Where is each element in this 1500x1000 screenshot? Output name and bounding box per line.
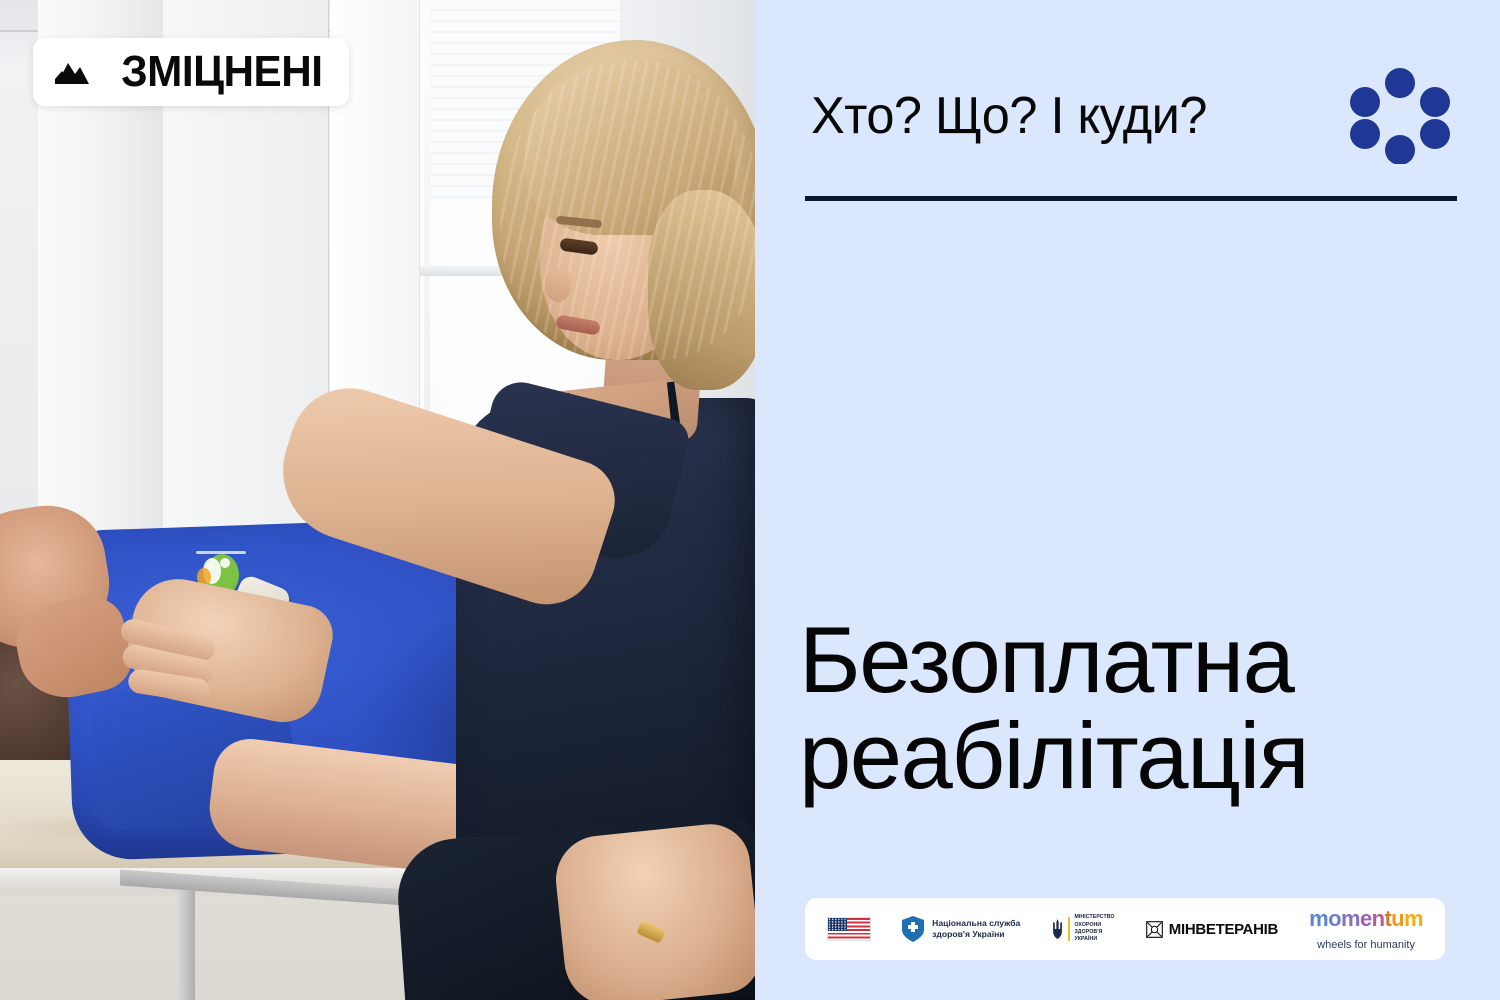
kicker-text: Хто? Що? І куди? <box>811 90 1207 142</box>
clinic-photo <box>0 0 755 1000</box>
moz-divider <box>1068 917 1070 941</box>
cross-emblem-icon <box>1146 921 1163 938</box>
moz-label: МІНІСТЕРСТВО ОХОРОНИ ЗДОРОВ'Я УКРАЇНИ <box>1074 914 1114 944</box>
headline-line-1: Безоплатна <box>799 607 1293 712</box>
kicker-row: Хто? Що? І куди? <box>805 68 1452 164</box>
nszu-line-2: здоров'я України <box>932 929 1020 940</box>
therapist-hand-holding <box>552 820 755 1000</box>
headline-line-2: реабілітація <box>799 708 1470 804</box>
shield-cross-icon <box>902 916 924 942</box>
partner-momentum: momentum wheels for humanity <box>1309 908 1423 951</box>
partner-usaid-flag <box>827 917 871 941</box>
brand-logo-badge[interactable]: ЗМІЦНЕНІ <box>33 38 349 106</box>
partner-minveteraniv: МІНВЕТЕРАНІВ <box>1146 921 1278 938</box>
nszu-line-1: Національна служба <box>932 918 1020 929</box>
brand-logo-text: ЗМІЦНЕНІ <box>121 50 322 94</box>
nszu-label: Національна служба здоров'я України <box>932 918 1020 940</box>
us-flag-icon <box>827 917 871 941</box>
partner-nszu: Національна служба здоров'я України <box>902 916 1020 942</box>
content-panel: Хто? Що? І куди? Безоплатна реабілітація <box>755 0 1500 1000</box>
trident-icon <box>1051 919 1064 939</box>
therapist-nose <box>545 268 571 302</box>
partner-logo-bar: Національна служба здоров'я України МІНІ… <box>805 898 1445 960</box>
momentum-tagline: wheels for humanity <box>1317 940 1415 951</box>
poster: ЗМІЦНЕНІ Хто? Що? І куди? Безоплатна реа… <box>0 0 1500 1000</box>
minveteraniv-label: МІНВЕТЕРАНІВ <box>1169 921 1278 938</box>
photo-panel: ЗМІЦНЕНІ <box>0 0 755 1000</box>
hexagon-dots-icon <box>1348 68 1452 164</box>
mountain-icon <box>55 57 107 87</box>
momentum-wordmark: momentum <box>1309 908 1423 930</box>
partner-moz: МІНІСТЕРСТВО ОХОРОНИ ЗДОРОВ'Я УКРАЇНИ <box>1051 914 1114 944</box>
page-title: Безоплатна реабілітація <box>799 612 1470 804</box>
header-divider <box>805 196 1457 201</box>
moz-line-1: МІНІСТЕРСТВО <box>1074 914 1114 921</box>
treatment-table-leg <box>178 890 195 1000</box>
moz-line-4: УКРАЇНИ <box>1074 936 1114 943</box>
moz-line-2: ОХОРОНИ <box>1074 922 1114 929</box>
